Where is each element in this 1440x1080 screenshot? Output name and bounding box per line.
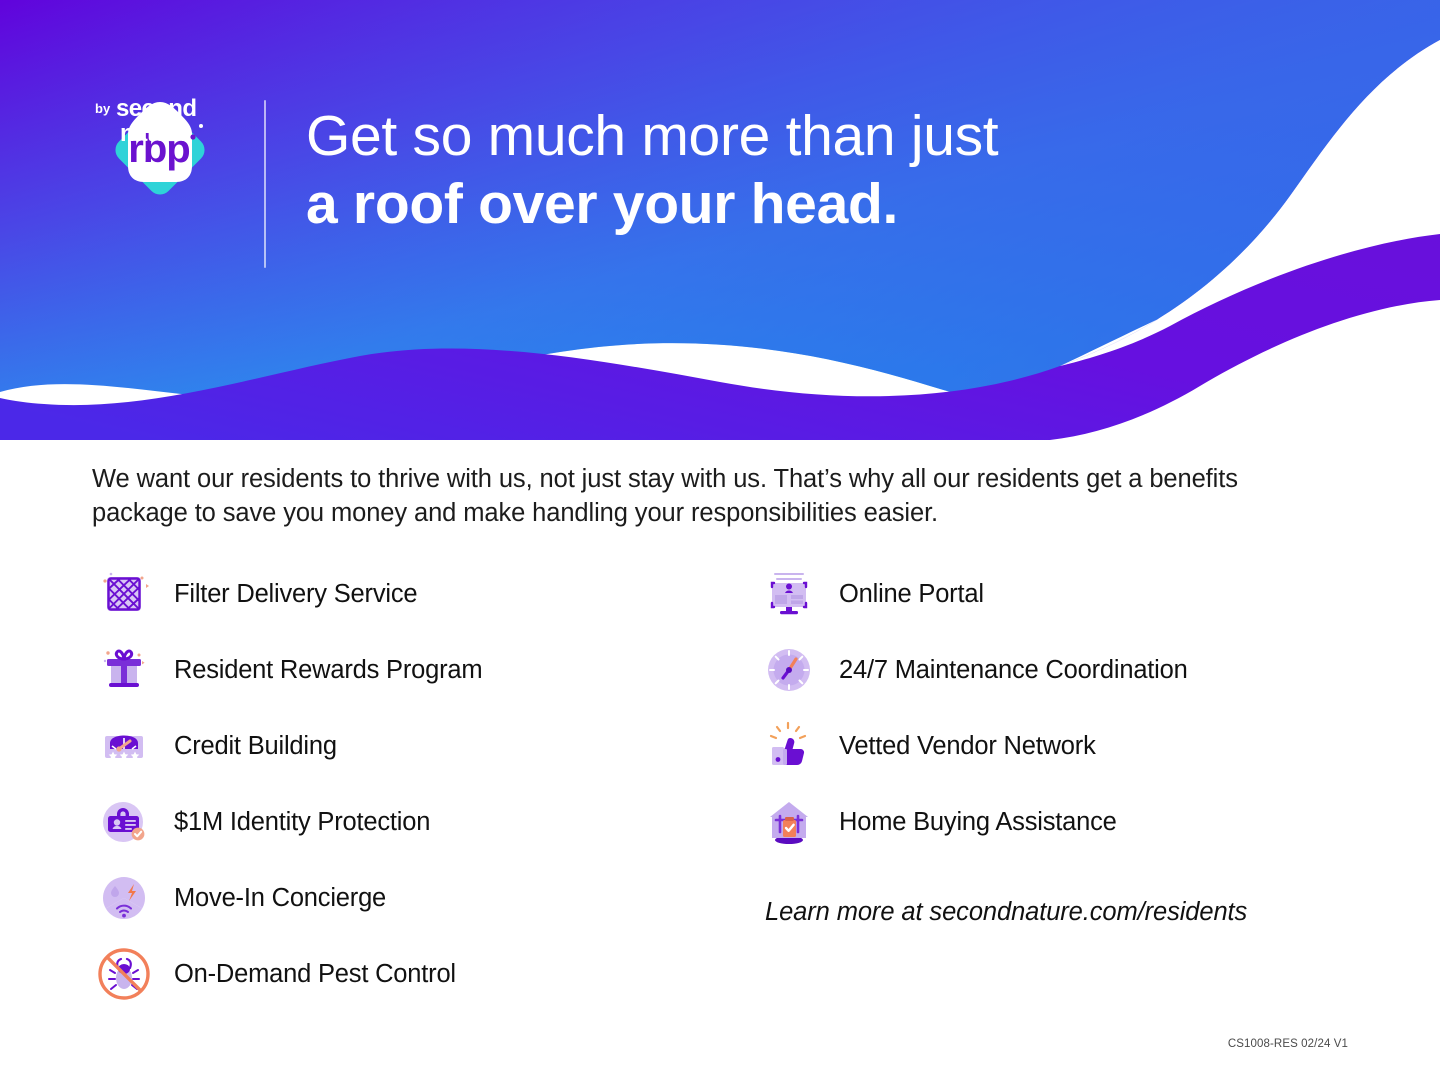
hero-divider <box>264 100 266 268</box>
benefit-label: Credit Building <box>174 732 337 761</box>
benefits-column-left: Filter Delivery Service <box>92 556 712 1012</box>
benefit-label: $1M Identity Protection <box>174 808 430 837</box>
gift-box-icon <box>92 641 156 699</box>
credit-gauge-icon <box>92 717 156 775</box>
headline-line-2: a roof over your head. <box>306 170 998 238</box>
no-pest-icon <box>92 945 156 1003</box>
benefit-item-identity-protection[interactable]: $1M Identity Protection <box>92 784 712 860</box>
rbp-logo-lockup: rbp by second nature <box>90 96 230 218</box>
benefit-item-credit-building[interactable]: Credit Building <box>92 708 712 784</box>
clock-icon <box>757 641 821 699</box>
benefit-item-home-buying-assistance[interactable]: Home Buying Assistance <box>757 784 1377 860</box>
benefit-item-move-in-concierge[interactable]: Move-In Concierge <box>92 860 712 936</box>
benefit-item-resident-rewards-program[interactable]: Resident Rewards Program <box>92 632 712 708</box>
benefit-label: Move-In Concierge <box>174 884 386 913</box>
benefit-label: 24/7 Maintenance Coordination <box>839 656 1188 685</box>
benefit-item-vetted-vendor-network[interactable]: Vetted Vendor Network <box>757 708 1377 784</box>
air-filter-icon <box>92 565 156 623</box>
flyer-page: rbp by second nature Get so much more th… <box>0 0 1440 1080</box>
svg-text:nature: nature <box>120 120 190 147</box>
benefit-item-filter-delivery-service[interactable]: Filter Delivery Service <box>92 556 712 632</box>
hero-banner: rbp by second nature Get so much more th… <box>0 0 1440 440</box>
benefits-column-right: Online Portal 24 <box>757 556 1377 927</box>
benefit-item-pest-control[interactable]: On-Demand Pest Control <box>92 936 712 1012</box>
thumbs-up-icon <box>757 717 821 775</box>
svg-text:by: by <box>95 101 111 116</box>
headline-line-1: Get so much more than just <box>306 102 998 170</box>
learn-more-text[interactable]: Learn more at secondnature.com/residents <box>765 898 1377 927</box>
benefit-item-online-portal[interactable]: Online Portal <box>757 556 1377 632</box>
benefit-label: Home Buying Assistance <box>839 808 1117 837</box>
benefit-label: Online Portal <box>839 580 984 609</box>
id-card-lock-icon <box>92 793 156 851</box>
benefit-label: Resident Rewards Program <box>174 656 482 685</box>
svg-text:second: second <box>116 96 196 122</box>
benefit-label: On-Demand Pest Control <box>174 960 456 989</box>
hero-content: rbp by second nature Get so much more th… <box>90 96 998 268</box>
intro-paragraph: We want our residents to thrive with us,… <box>92 462 1307 530</box>
hero-headline: Get so much more than just a roof over y… <box>306 96 998 238</box>
document-code: CS1008-RES 02/24 V1 <box>1228 1038 1348 1050</box>
house-checklist-icon <box>757 793 821 851</box>
monitor-portal-icon <box>757 565 821 623</box>
benefit-item-maintenance-coordination[interactable]: 24/7 Maintenance Coordination <box>757 632 1377 708</box>
benefit-label: Vetted Vendor Network <box>839 732 1096 761</box>
utilities-pie-icon <box>92 869 156 927</box>
benefit-label: Filter Delivery Service <box>174 580 417 609</box>
